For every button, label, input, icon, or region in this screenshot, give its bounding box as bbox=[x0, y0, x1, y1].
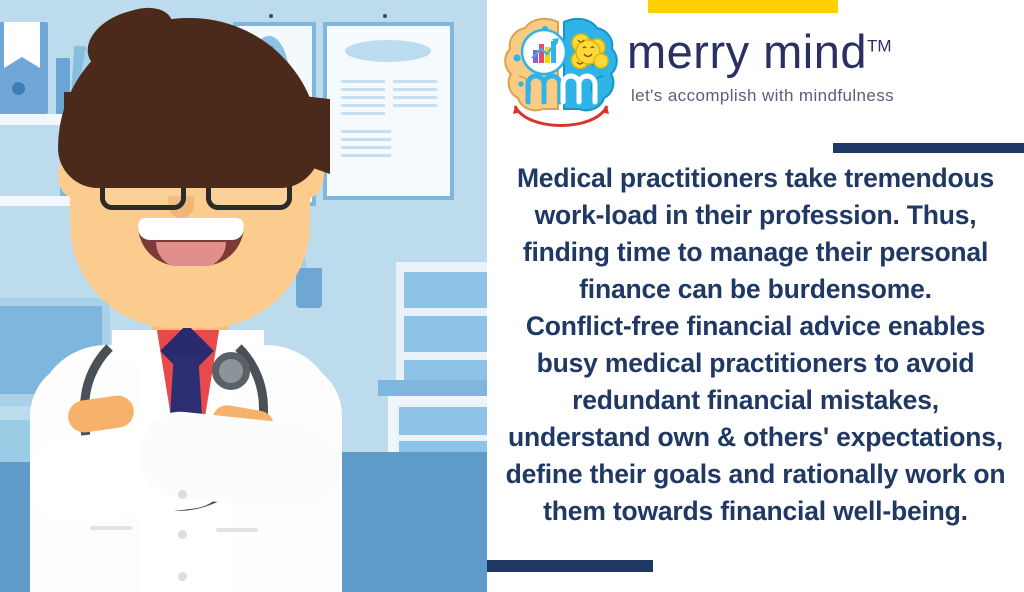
copy-line: define their goals and rationally work o… bbox=[495, 456, 1016, 493]
accent-bar-navy-bottom bbox=[487, 560, 653, 572]
brand-logo[interactable]: merry mindTM let's accomplish with mindf… bbox=[501, 12, 1011, 130]
stethoscope-chestpiece-icon bbox=[212, 352, 250, 390]
copy-line: finance can be burdensome. bbox=[495, 271, 1016, 308]
brand-wordmark: merry mindTM bbox=[627, 28, 892, 75]
copy-line: understand own & others' expectations, bbox=[495, 419, 1016, 456]
tongue bbox=[156, 242, 226, 266]
teeth bbox=[138, 218, 244, 240]
content-panel: merry mindTM let's accomplish with mindf… bbox=[487, 0, 1024, 592]
copy-line: Conflict-free financial advice enables bbox=[495, 308, 1016, 345]
accent-bar-navy-top bbox=[833, 143, 1024, 153]
copy-line: Medical practitioners take tremendous bbox=[495, 160, 1016, 197]
copy-line: work-load in their profession. Thus, bbox=[495, 197, 1016, 234]
poster: merry mindTM let's accomplish with mindf… bbox=[0, 0, 1024, 592]
coat-pocket bbox=[90, 526, 132, 530]
brand-name: merry mind bbox=[627, 25, 867, 78]
copy-line: finding time to manage their personal bbox=[495, 234, 1016, 271]
brain-logo-icon bbox=[501, 14, 621, 130]
copy-line: them towards financial well-being. bbox=[495, 493, 1016, 530]
coat-button bbox=[178, 572, 187, 581]
coat-button bbox=[178, 490, 187, 499]
copy-line: busy medical practitioners to avoid bbox=[495, 345, 1016, 382]
coat-pocket bbox=[216, 528, 258, 532]
brand-tagline: let's accomplish with mindfulness bbox=[631, 86, 894, 106]
trademark-symbol: TM bbox=[867, 36, 892, 55]
body-copy: Medical practitioners take tremendous wo… bbox=[495, 160, 1016, 530]
copy-line: redundant financial mistakes, bbox=[495, 382, 1016, 419]
doctor-figure bbox=[0, 0, 487, 592]
coat-button bbox=[178, 530, 187, 539]
doctor-clinic-illustration bbox=[0, 0, 487, 592]
